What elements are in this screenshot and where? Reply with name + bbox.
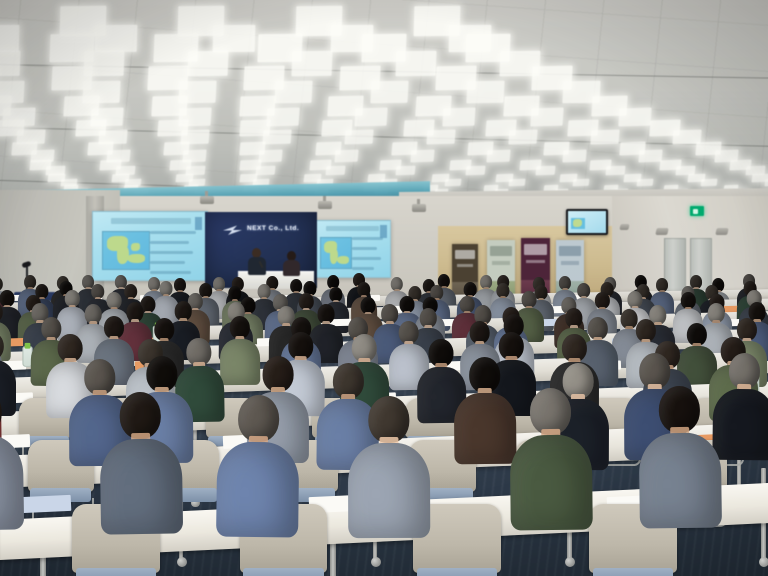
ceiling-projector-center [318, 201, 332, 209]
slide-map-southeast-asia [320, 237, 352, 270]
monitor-screen [568, 211, 606, 233]
person-torso [348, 443, 430, 538]
person-torso [454, 393, 517, 465]
banner-subtitle-bar [561, 261, 579, 265]
ceiling-light-panel [444, 179, 461, 187]
wall-mounted-monitor [566, 209, 608, 235]
person-head [0, 302, 3, 322]
table-caster [177, 557, 187, 567]
ceiling-light-panel [255, 166, 275, 176]
ceiling-light-panel [426, 130, 455, 145]
banner-title-bar [524, 244, 546, 254]
ceiling-light-panel [344, 130, 373, 145]
handout-paper [19, 495, 71, 514]
slide-title-bar [326, 226, 379, 230]
ceiling-light-panel [262, 130, 291, 145]
person-torso [510, 435, 593, 530]
ceiling-light-panel [466, 81, 504, 103]
ceiling-light-panel [605, 166, 625, 176]
presenter-speaker [248, 248, 266, 274]
ceiling-light-panel [590, 130, 619, 145]
slide-corner-logo [380, 225, 387, 238]
presenter-interpreter [283, 251, 300, 275]
conference-room-photo: NEXT Co., Ltd. [0, 0, 768, 576]
ceiling-light-panel [411, 150, 435, 162]
person-head [0, 332, 3, 360]
ceiling-light-panel [0, 51, 21, 77]
chair-seat [417, 568, 498, 576]
ceiling-light-panel [636, 179, 653, 187]
table-caster [759, 557, 768, 567]
ceiling-light-panel [700, 179, 717, 187]
ceiling-light-panel [535, 166, 555, 176]
slide-map-southeast-asia [102, 231, 150, 270]
ceiling-light-panel [370, 81, 408, 103]
audience-member [99, 391, 183, 534]
slide-corner-logo [195, 217, 202, 230]
ceiling-light-panel [95, 24, 138, 51]
ceiling-light-panel [465, 166, 485, 176]
ceiling-projector-right [412, 204, 426, 212]
ceiling-light-panel [0, 24, 20, 51]
person-head [0, 388, 2, 436]
person-torso [100, 438, 184, 534]
audience-member [347, 396, 430, 538]
ceiling-light-panel [563, 150, 587, 162]
person-torso [639, 433, 722, 529]
person-torso [713, 388, 768, 460]
ceiling-light-panel [487, 150, 511, 162]
audience-member [713, 353, 768, 461]
company-name-label: NEXT Co., Ltd. [247, 225, 299, 232]
emergency-exit-sign-icon [690, 206, 704, 216]
ceiling-light-panel [213, 24, 256, 51]
slide-title-bar [111, 218, 191, 223]
ceiling-light-panel [354, 108, 387, 127]
banner-title-bar [455, 250, 475, 259]
banner-title-bar [490, 246, 511, 256]
ceiling-light-panel [395, 166, 415, 176]
ceiling-light-panel [274, 81, 312, 103]
wall-speaker-far-left [619, 224, 629, 230]
person-torso [216, 442, 299, 538]
ceiling [0, 0, 768, 200]
ceiling-light-panel [530, 108, 563, 127]
chair-seat [243, 568, 324, 576]
person-torso [0, 435, 24, 531]
audience-member [454, 357, 517, 465]
banner-subtitle-bar [492, 261, 510, 265]
ceiling-light-panel [266, 108, 299, 127]
ceiling-light-panel [335, 150, 359, 162]
chair-seat [76, 568, 157, 576]
audience-member [0, 387, 24, 530]
slide-bullet-lines [352, 237, 385, 268]
ceiling-light-panel [187, 51, 228, 77]
banner-subtitle-bar [526, 260, 545, 264]
banner-title-bar [559, 246, 580, 256]
ceiling-light-panel [395, 51, 436, 77]
ceiling-light-panel [508, 130, 537, 145]
ceiling-light-panel [291, 51, 332, 77]
ceiling-light-panel [618, 108, 651, 127]
ceiling-light-panel [639, 150, 663, 162]
slide-bullet-lines [150, 231, 200, 268]
wall-speaker-right [715, 228, 728, 235]
swoosh-arrow-logo-icon [222, 224, 244, 236]
projection-screen-left [92, 211, 208, 281]
banner-subtitle-bar [457, 264, 474, 267]
ceiling-light-panel [508, 179, 525, 187]
chair-seat [593, 568, 674, 576]
ceiling-light-panel [442, 108, 475, 127]
audience-member [638, 386, 722, 529]
monitor-slide-map [571, 218, 585, 229]
ceiling-light-panel [764, 179, 768, 187]
audience-member [509, 388, 593, 531]
ceiling-light-panel [325, 166, 345, 176]
ceiling-light-panel [572, 179, 589, 187]
projection-screen-right [313, 220, 391, 278]
wall-speaker-left [655, 228, 668, 235]
ceiling-projector-left [200, 196, 214, 204]
audience-member [216, 394, 300, 537]
ceiling-light-panel [259, 150, 283, 162]
